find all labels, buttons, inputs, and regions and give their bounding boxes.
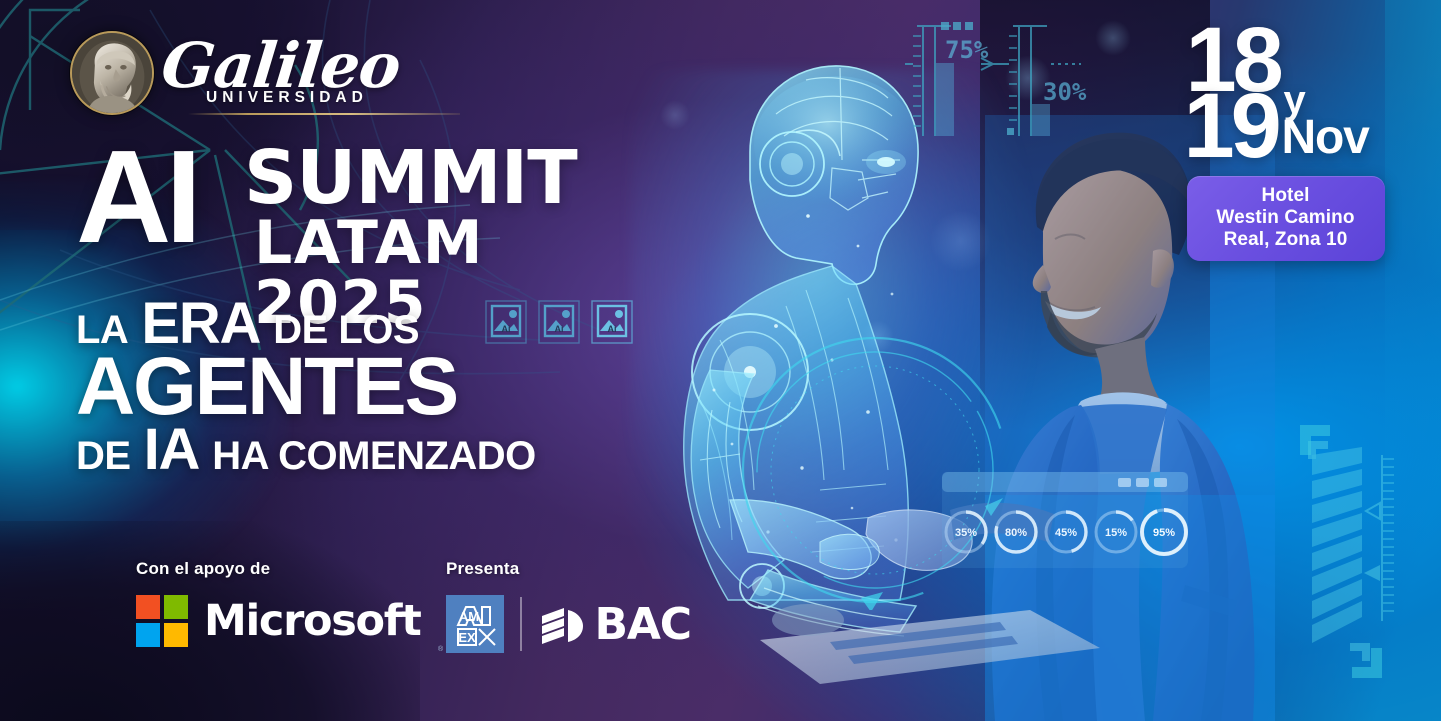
support-sponsor-group: Con el apoyo de Microsoft — [136, 559, 420, 647]
amex-registered-mark: ® — [438, 646, 443, 653]
sponsor-divider — [520, 597, 522, 651]
bac-mark-icon — [538, 600, 586, 648]
event-date-venue: 18 y 19 Nov Hotel Westin Camino Real, Zo… — [1178, 0, 1393, 275]
presenting-sponsor-group: Presenta AM EX — [446, 559, 691, 653]
galileo-name: Galileo — [159, 39, 402, 92]
presenting-logos-row: AM EX ® — [446, 595, 691, 653]
tagline-agentes: AGENTES — [76, 348, 457, 427]
date-day-2: 19 — [1184, 80, 1278, 172]
hud-ring-label-4: 95% — [1153, 527, 1175, 539]
event-dates: 18 y 19 Nov — [1186, 18, 1386, 170]
microsoft-squares-icon — [136, 595, 188, 647]
corner-bracket-icon — [1352, 648, 1382, 678]
venue-line-1: Hotel — [1195, 185, 1377, 207]
amex-logo[interactable]: AM EX ® — [446, 595, 504, 653]
tagline-ha-comenzado: HA COMENZADO — [212, 437, 536, 475]
hud-ring-label-1: 80% — [1005, 527, 1027, 539]
galileo-bust-medallion — [70, 31, 154, 115]
microsoft-wordmark: Microsoft — [204, 596, 420, 646]
ms-square-green — [164, 595, 188, 619]
tagline-ia: IA — [144, 422, 200, 478]
hud-ring-label-0: 35% — [955, 527, 977, 539]
presents-label: Presenta — [446, 559, 691, 579]
title-ai: AI — [76, 131, 196, 263]
event-title-row: AI SUMMIT LATAM 2025 — [76, 135, 636, 247]
galileo-university-logo[interactable]: Galileo UNIVERSIDAD — [70, 28, 390, 118]
corner-bracket-icon — [1300, 425, 1330, 455]
bac-logo[interactable]: BAC — [538, 599, 691, 650]
amex-bottom-text: EX — [458, 630, 476, 645]
tagline-de: DE — [76, 437, 131, 475]
event-title: AI SUMMIT LATAM 2025 — [76, 135, 636, 247]
event-banner: 75% 30% — [0, 0, 1441, 721]
hud-ring-gauges-panel: 35% 80% 45% 15% 95% — [940, 470, 1190, 570]
microsoft-logo[interactable]: Microsoft — [136, 595, 420, 647]
support-label: Con el apoyo de — [136, 559, 420, 579]
hud-gauge2-label: 30% — [1043, 78, 1087, 106]
galileo-wordmark: Galileo UNIVERSIDAD — [162, 39, 400, 106]
date-month: Nov — [1282, 114, 1369, 162]
amex-logo-icon: AM EX — [446, 595, 504, 653]
tagline-line-2: AGENTES — [76, 348, 596, 427]
venue-line-3: Real, Zona 10 — [1195, 229, 1377, 251]
amex-top-text: AM — [459, 609, 479, 624]
hud-ring-label-3: 15% — [1105, 527, 1127, 539]
venue-badge[interactable]: Hotel Westin Camino Real, Zona 10 — [1187, 176, 1385, 261]
sponsors-section: Con el apoyo de Microsoft Presenta — [76, 559, 636, 679]
title-summit: SUMMIT — [244, 141, 577, 215]
galileo-bust-icon — [72, 33, 152, 113]
ms-square-red — [136, 595, 160, 619]
ms-square-yellow — [164, 623, 188, 647]
hud-bar-gauges: 75% 30% — [905, 8, 1135, 148]
ms-square-blue — [136, 623, 160, 647]
venue-line-2: Westin Camino — [1195, 207, 1377, 229]
hud-ring-label-2: 45% — [1055, 527, 1077, 539]
hud-gauge1-label: 75% — [945, 36, 989, 64]
bac-wordmark: BAC — [595, 599, 691, 650]
event-tagline: LA ERA DE LOS AGENTES DE IA HA COMENZADO — [76, 296, 596, 478]
logo-gold-rule — [188, 113, 460, 115]
